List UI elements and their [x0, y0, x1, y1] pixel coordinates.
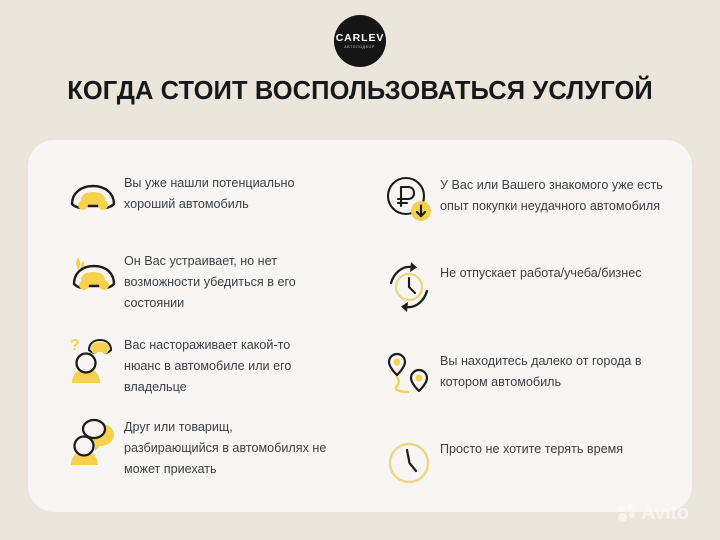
reasons-columns: Вы уже нашли потенциально хороший автомо…	[28, 140, 692, 512]
person-question-car-icon: ?	[62, 328, 124, 390]
clock-refresh-icon	[378, 256, 440, 318]
list-item-label: У Вас или Вашего знакомого уже есть опыт…	[440, 168, 668, 217]
list-item: Вы уже нашли потенциально хороший автомо…	[62, 166, 358, 228]
clock-icon	[378, 432, 440, 494]
logo-badge: CARLEV АВТОПОДБОР	[334, 15, 386, 67]
avito-dots-icon	[618, 503, 638, 523]
list-item: Друг или товарищ, разбирающийся в автомо…	[62, 410, 358, 480]
reasons-card: Вы уже нашли потенциально хороший автомо…	[28, 140, 692, 512]
list-item-label: Вы уже нашли потенциально хороший автомо…	[124, 166, 329, 215]
logo-tagline: АВТОПОДБОР	[345, 46, 376, 49]
list-item-label: Вас настораживает какой-то нюанс в автом…	[124, 328, 329, 398]
slide-root: CARLEV АВТОПОДБОР КОГДА СТОИТ ВОСПОЛЬЗОВ…	[0, 0, 720, 540]
list-item: У Вас или Вашего знакомого уже есть опыт…	[378, 168, 680, 230]
brand-logo: CARLEV АВТОПОДБОР	[0, 15, 720, 67]
list-item: Вы находитесь далеко от города в котором…	[378, 344, 680, 406]
map-pins-route-icon	[378, 344, 440, 406]
list-item-label: Вы находитесь далеко от города в котором…	[440, 344, 668, 393]
svg-text:?: ?	[70, 337, 80, 354]
car-icon	[62, 166, 124, 228]
person-speech-bubble-icon	[62, 410, 124, 472]
avito-watermark: Avito	[618, 503, 689, 523]
list-item: ? Вас настораживает какой-то нюанс в авт…	[62, 328, 358, 398]
right-column: У Вас или Вашего знакомого уже есть опыт…	[368, 140, 692, 512]
list-item: Просто не хотите терять время	[378, 432, 680, 494]
left-column: Вы уже нашли потенциально хороший автомо…	[28, 140, 368, 512]
ruble-down-arrow-icon	[378, 168, 440, 230]
avito-wordmark: Avito	[641, 503, 689, 523]
car-spark-icon	[62, 244, 124, 306]
list-item: Не отпускает работа/учеба/бизнес	[378, 256, 680, 318]
page-title: КОГДА СТОИТ ВОСПОЛЬЗОВАТЬСЯ УСЛУГОЙ	[0, 77, 720, 106]
logo-name: CARLEV	[336, 33, 385, 44]
list-item-label: Не отпускает работа/учеба/бизнес	[440, 256, 642, 284]
list-item: Он Вас устраивает, но нет возможности уб…	[62, 244, 358, 314]
list-item-label: Друг или товарищ, разбирающийся в автомо…	[124, 410, 329, 480]
list-item-label: Просто не хотите терять время	[440, 432, 623, 460]
list-item-label: Он Вас устраивает, но нет возможности уб…	[124, 244, 329, 314]
